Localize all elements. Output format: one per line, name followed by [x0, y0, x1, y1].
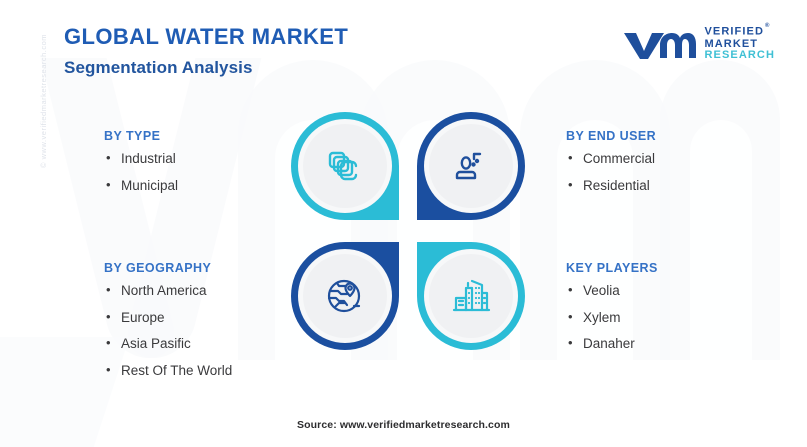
petal-disc: [429, 124, 513, 208]
segment-list-geography: North America Europe Asia Pasific Rest O…: [104, 284, 232, 377]
registered-trademark-icon: ®: [765, 23, 771, 29]
layers-stack-icon: [325, 146, 365, 186]
source-line: Source: www.verifiedmarketresearch.com: [0, 419, 807, 431]
segment-heading-type: BY TYPE: [104, 129, 178, 143]
vmr-logo-mark-icon: [622, 27, 696, 61]
petal-key-players: [417, 242, 525, 350]
page-title: GLOBAL WATER MARKET: [64, 24, 348, 49]
list-item: Danaher: [566, 337, 658, 351]
list-item: North America: [104, 284, 232, 298]
logo-wordmark: VERIFIED® MARKET RESEARCH: [704, 26, 775, 62]
list-item: Rest Of The World: [104, 364, 232, 378]
segment-list-key-players: Veolia Xylem Danaher: [566, 284, 658, 351]
buildings-city-icon: [450, 275, 492, 317]
petal-end-user: [417, 112, 525, 220]
logo-line-verified: VERIFIED®: [704, 26, 775, 39]
header: GLOBAL WATER MARKET Segmentation Analysi…: [64, 24, 348, 78]
logo-line-research: RESEARCH: [704, 50, 775, 62]
side-watermark: © www.verifiedmarketresearch.com: [39, 34, 48, 168]
list-item: Commercial: [566, 152, 656, 166]
user-person-icon: [451, 146, 491, 186]
list-item: Asia Pasific: [104, 337, 232, 351]
segment-heading-key-players: KEY PLAYERS: [566, 261, 658, 275]
petal-geography: [291, 242, 399, 350]
petal-disc: [429, 254, 513, 338]
globe-location-pin-icon: [324, 275, 366, 317]
list-item: Municipal: [104, 179, 178, 193]
petal-disc: [303, 124, 387, 208]
list-item: Xylem: [566, 311, 658, 325]
segment-icon-cluster: [291, 112, 525, 350]
list-item: Europe: [104, 311, 232, 325]
segment-list-type: Industrial Municipal: [104, 152, 178, 192]
segment-list-end-user: Commercial Residential: [566, 152, 656, 192]
segment-heading-end-user: BY END USER: [566, 129, 656, 143]
petal-type: [291, 112, 399, 220]
list-item: Veolia: [566, 284, 658, 298]
segment-group-type: BY TYPE Industrial Municipal: [104, 129, 178, 205]
segment-group-geography: BY GEOGRAPHY North America Europe Asia P…: [104, 261, 232, 390]
segment-heading-geography: BY GEOGRAPHY: [104, 261, 232, 275]
verified-market-research-logo: VERIFIED® MARKET RESEARCH: [622, 26, 775, 62]
infographic-canvas: GLOBAL WATER MARKET Segmentation Analysi…: [0, 0, 807, 447]
segment-group-key-players: KEY PLAYERS Veolia Xylem Danaher: [566, 261, 658, 364]
page-subtitle: Segmentation Analysis: [64, 58, 348, 78]
petal-disc: [303, 254, 387, 338]
segment-group-end-user: BY END USER Commercial Residential: [566, 129, 656, 205]
list-item: Industrial: [104, 152, 178, 166]
list-item: Residential: [566, 179, 656, 193]
